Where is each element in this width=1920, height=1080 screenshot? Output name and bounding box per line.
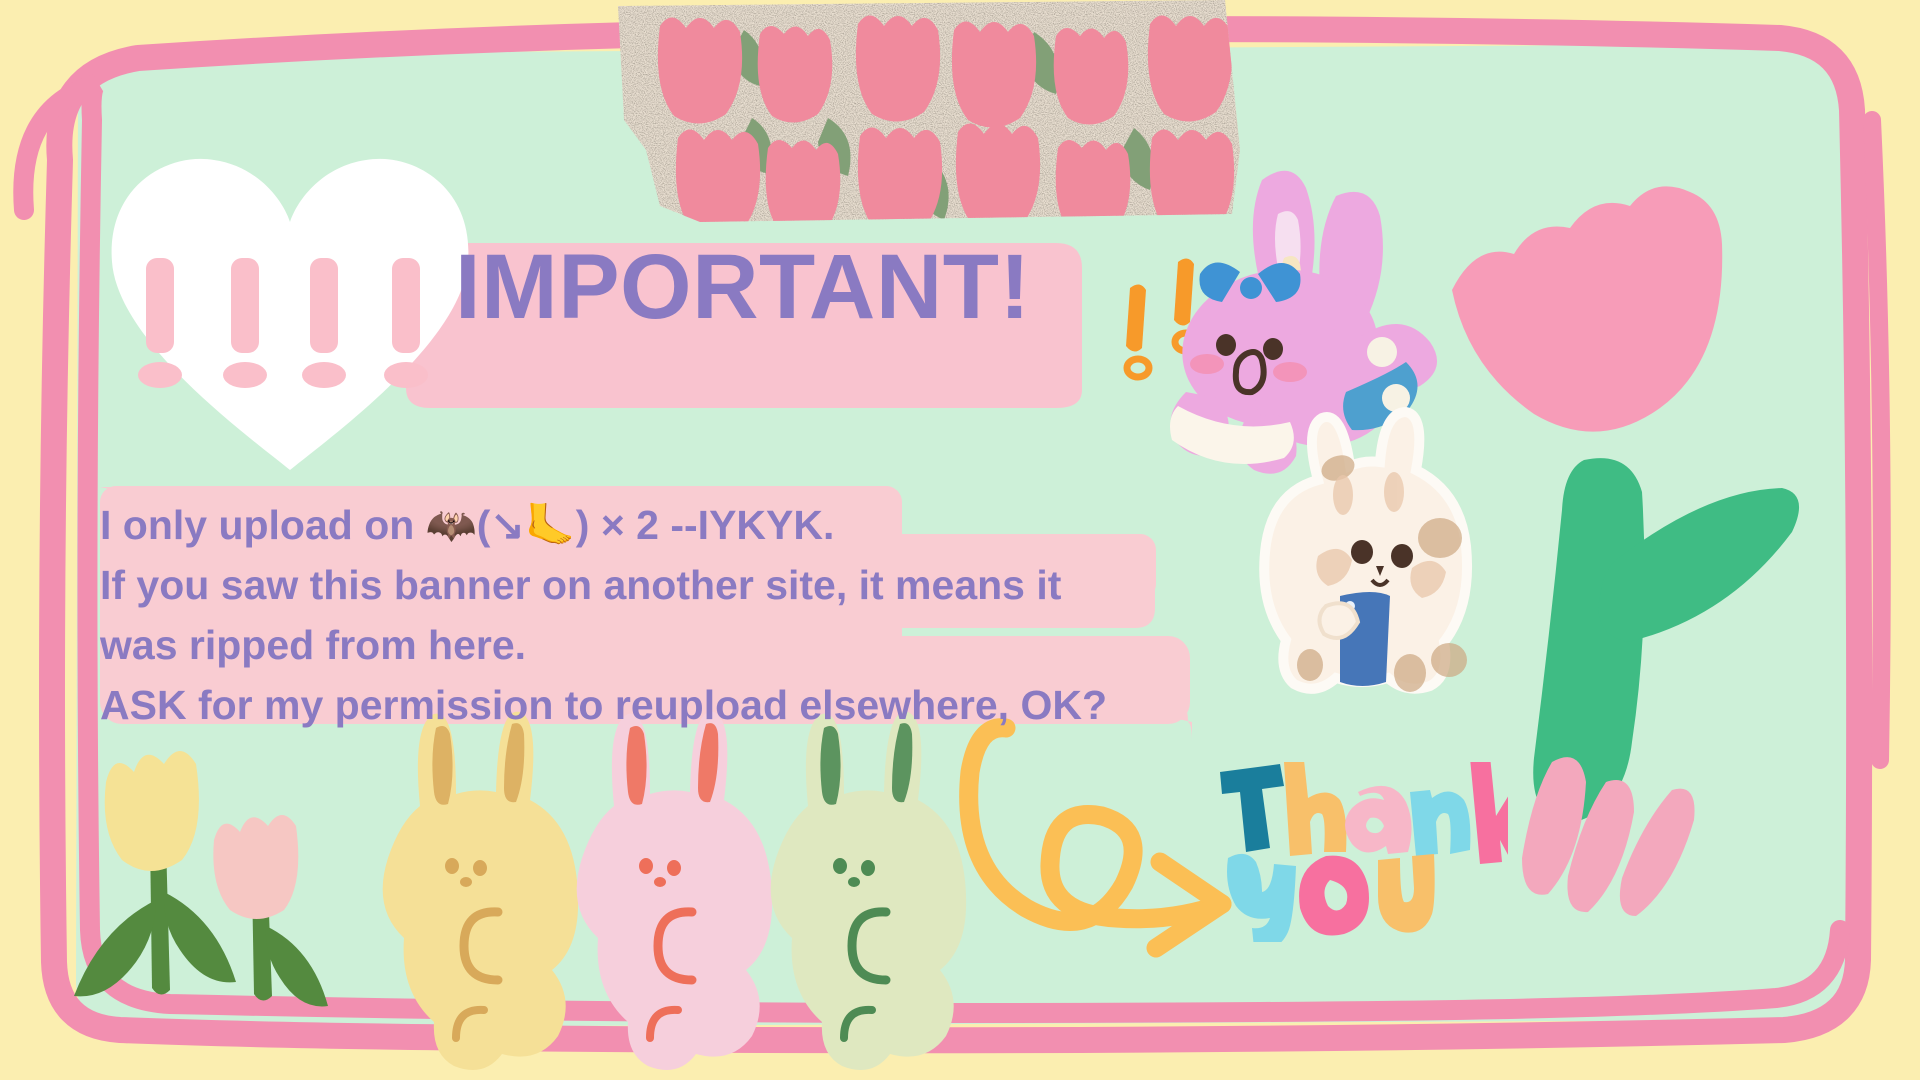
thanks-letter-T [1220,764,1284,852]
thanks-letter-k [1470,762,1508,866]
page-title: IMPORTANT! [455,241,1031,333]
thank-you-lettering [1218,762,1508,942]
banner-canvas: IMPORTANT! I only upload on 🦇(↘🦶) × 2 --… [0,0,1920,1080]
body-line-1: I only upload on 🦇(↘🦶) × 2 --IYKYK. [100,495,1210,555]
thanks-letter-h [1284,762,1346,856]
body-line-3: was ripped from here. [100,615,1210,675]
body-line-2: If you saw this banner on another site, … [100,555,1210,615]
thanks-letter-o [1299,856,1369,936]
banner-title-block: IMPORTANT! [455,241,1031,333]
thanks-letter-y [1227,854,1296,942]
banner-body-block: I only upload on 🦇(↘🦶) × 2 --IYKYK. If y… [100,495,1210,735]
thanks-letter-n [1410,790,1470,856]
thanks-letter-u [1378,854,1435,933]
body-line-4: ASK for my permission to reupload elsewh… [100,675,1210,735]
thanks-letter-a [1345,786,1412,854]
